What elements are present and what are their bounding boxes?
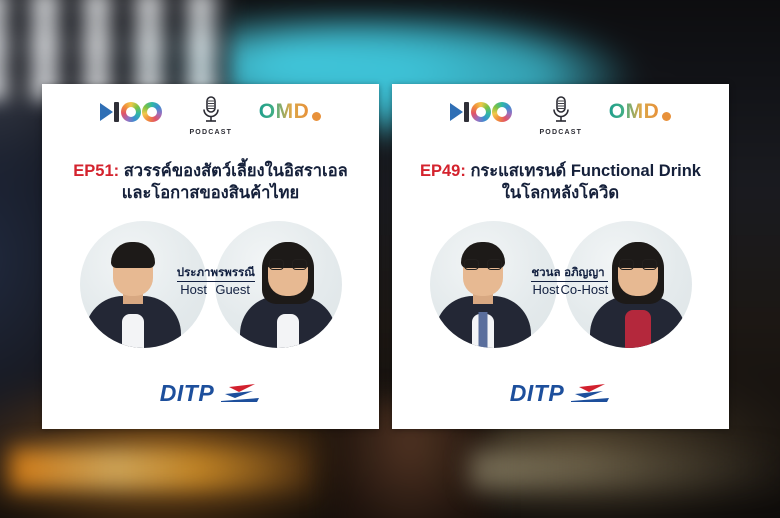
- logo-omd: OMD: [609, 99, 672, 123]
- name-plate: พรพรรณี Guest: [211, 267, 255, 298]
- podcast-card-group: PODCAST OMD EP51: สวรรค์ของสัตว์เลี้ยงใน…: [0, 0, 780, 518]
- logo-podcast-mic: PODCAST: [189, 95, 233, 136]
- person-name: ประภา: [177, 267, 211, 282]
- ditp-swoosh-icon: [219, 383, 261, 405]
- episode-tag: EP49:: [420, 162, 466, 180]
- card-avatar-row: ประภา Host: [80, 221, 342, 348]
- rainbow-ring-icon: [492, 102, 512, 122]
- title-line-2: ในโลกหลังโควิด: [411, 182, 711, 204]
- ditp-swoosh-icon: [569, 383, 611, 405]
- name-plate: อภิญญา Co-Host: [561, 267, 609, 298]
- play-triangle-icon: [450, 103, 463, 121]
- avatar-host[interactable]: ชวนล Host: [430, 221, 557, 348]
- card-logo-row: PODCAST OMD: [392, 95, 729, 143]
- podcast-label: PODCAST: [189, 129, 232, 136]
- microphone-icon: [199, 95, 223, 127]
- card-title: EP49: กระแสเทรนด์ Functional Drink ในโลก…: [411, 160, 711, 205]
- title-line-2: และโอกาสของสินค้าไทย: [61, 182, 361, 204]
- digit-one-mark: [114, 102, 119, 122]
- avatar-co-host[interactable]: อภิญญา Co-Host: [565, 221, 692, 348]
- omd-dot-icon: [662, 112, 671, 121]
- logo-omd: OMD: [259, 99, 322, 123]
- play-triangle-icon: [100, 103, 113, 121]
- avatar-guest[interactable]: พรพรรณี Guest: [215, 221, 342, 348]
- screenshot-stage: PODCAST OMD EP51: สวรรค์ของสัตว์เลี้ยงใน…: [0, 0, 780, 518]
- digit-one-mark: [464, 102, 469, 122]
- person-role: Guest: [211, 283, 255, 298]
- rainbow-ring-icon: [471, 102, 491, 122]
- logo-podcast-mic: PODCAST: [539, 95, 583, 136]
- title-line-1: สวรรค์ของสัตว์เลี้ยงในอิสราเอล: [124, 162, 348, 180]
- ditp-wordmark: DITP: [510, 380, 564, 407]
- person-name: พรพรรณี: [211, 267, 255, 282]
- name-plate: ชวนล Host: [531, 267, 560, 298]
- microphone-icon: [549, 95, 573, 127]
- podcast-card-ep49[interactable]: PODCAST OMD EP49: กระแสเทรนด์ Functional…: [392, 84, 729, 429]
- name-plate: ประภา Host: [177, 267, 211, 298]
- rainbow-ring-icon: [142, 102, 162, 122]
- portrait-photo: [430, 221, 547, 348]
- person-role: Co-Host: [561, 283, 609, 298]
- episode-tag: EP51:: [73, 162, 119, 180]
- person-name: อภิญญา: [561, 267, 609, 282]
- avatar-host[interactable]: ประภา Host: [80, 221, 207, 348]
- podcast-card-ep51[interactable]: PODCAST OMD EP51: สวรรค์ของสัตว์เลี้ยงใน…: [42, 84, 379, 429]
- rainbow-ring-icon: [121, 102, 141, 122]
- logo-100: [100, 99, 163, 125]
- person-name: ชวนล: [531, 267, 560, 282]
- logo-100: [450, 99, 513, 125]
- card-avatar-row: ชวนล Host: [430, 221, 692, 348]
- omd-wordmark: OMD: [259, 101, 310, 122]
- card-logo-row: PODCAST OMD: [42, 95, 379, 143]
- omd-dot-icon: [312, 112, 321, 121]
- ditp-logo: DITP: [160, 380, 261, 407]
- ditp-wordmark: DITP: [160, 380, 214, 407]
- title-line-1: กระแสเทรนด์ Functional Drink: [470, 162, 701, 180]
- ditp-logo: DITP: [510, 380, 611, 407]
- card-title: EP51: สวรรค์ของสัตว์เลี้ยงในอิสราเอล และ…: [61, 160, 361, 205]
- omd-wordmark: OMD: [609, 101, 660, 122]
- person-role: Host: [531, 283, 560, 298]
- podcast-label: PODCAST: [539, 129, 582, 136]
- person-role: Host: [177, 283, 211, 298]
